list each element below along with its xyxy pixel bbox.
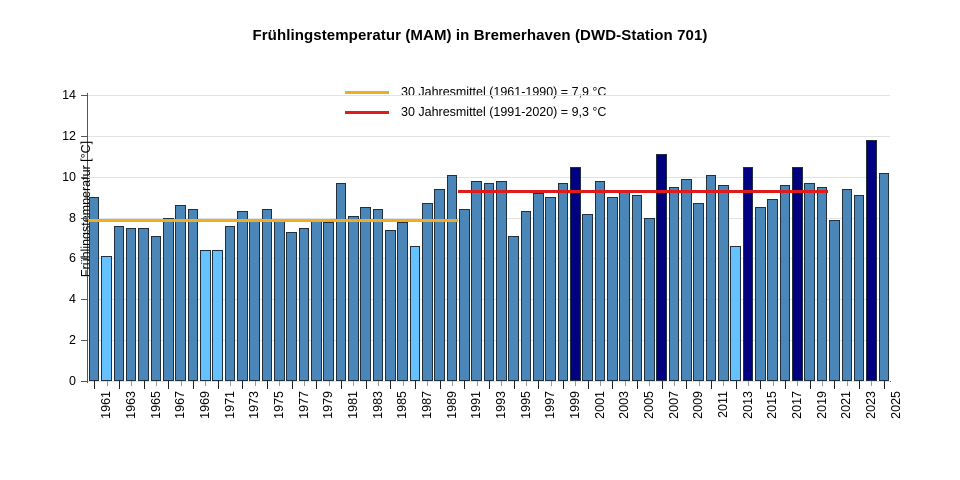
x-axis-tick: [674, 381, 675, 386]
x-axis-tick: [255, 381, 256, 386]
bar-1977: [286, 232, 297, 381]
bar-1988: [422, 203, 433, 381]
x-axis-tick: [205, 381, 206, 386]
x-axis-tick: [168, 381, 169, 389]
bar-2021: [829, 220, 840, 381]
x-axis-tick-label: 1985: [395, 391, 409, 419]
bar-1993: [484, 183, 495, 381]
x-axis-tick: [662, 381, 663, 389]
x-axis-tick: [600, 381, 601, 386]
y-axis-tick: [81, 299, 88, 300]
x-axis-tick: [144, 381, 145, 389]
x-axis-tick: [329, 381, 330, 386]
bar-1972: [225, 226, 236, 381]
y-axis-tick-label: 0: [36, 381, 76, 382]
x-axis-tick: [711, 381, 712, 389]
bar-2005: [632, 195, 643, 381]
x-axis-tick-label: 2003: [617, 391, 631, 419]
x-axis-tick: [193, 381, 194, 389]
x-axis-tick-label: 2011: [716, 391, 730, 418]
bar-1995: [508, 236, 519, 381]
bar-2024: [866, 140, 877, 381]
chart-root: Frühlingstemperatur (MAM) in Bremerhaven…: [0, 0, 960, 480]
x-axis-tick: [538, 381, 539, 389]
x-axis-tick-label: 1997: [543, 391, 557, 419]
bar-2008: [669, 187, 680, 381]
x-axis-tick: [230, 381, 231, 386]
bar-2023: [854, 195, 865, 381]
x-axis-tick-label: 1975: [272, 391, 286, 419]
bar-2017: [780, 185, 791, 381]
bar-1963: [114, 226, 125, 381]
x-axis-tick-label: 1991: [469, 391, 483, 419]
bar-1998: [545, 197, 556, 381]
x-axis-tick: [514, 381, 515, 389]
bar-2019: [804, 183, 815, 381]
x-axis-tick: [464, 381, 465, 389]
plot-area: Frühlingstemperatur [°C] 02468101214 196…: [88, 95, 890, 381]
bar-1973: [237, 211, 248, 381]
bar-1974: [249, 220, 260, 381]
x-axis-tick: [686, 381, 687, 389]
bar-1999: [558, 183, 569, 381]
x-axis-tick-label: 2021: [839, 391, 853, 419]
x-axis-tick-label: 2001: [593, 391, 607, 419]
bar-1996: [521, 211, 532, 381]
bar-1965: [138, 228, 149, 381]
y-axis-tick: [81, 136, 88, 137]
y-axis-tick: [81, 340, 88, 341]
x-axis-tick-label: 1971: [223, 391, 237, 419]
bar-2015: [755, 207, 766, 381]
bar-1976: [274, 220, 285, 381]
mean-1961-1990: [88, 219, 458, 222]
x-axis-tick-label: 1979: [321, 391, 335, 419]
x-axis-tick: [341, 381, 342, 389]
x-axis-tick: [501, 381, 502, 386]
x-axis-labels: 1961196319651967196919711973197519771979…: [88, 391, 890, 471]
x-axis-tick: [316, 381, 317, 389]
x-axis-tick: [119, 381, 120, 389]
y-axis-tick: [81, 177, 88, 178]
x-axis-tick: [736, 381, 737, 389]
x-axis-tick: [859, 381, 860, 389]
bar-1979: [311, 220, 322, 381]
x-axis-tick: [267, 381, 268, 389]
x-axis-tick-label: 2023: [864, 391, 878, 419]
x-axis-tick: [107, 381, 108, 386]
x-axis-tick-label: 2017: [790, 391, 804, 419]
x-axis-tick-label: 2007: [667, 391, 681, 419]
x-axis-tick: [415, 381, 416, 389]
bar-2000: [570, 167, 581, 382]
x-axis-tick: [822, 381, 823, 386]
x-axis-tick-label: 1977: [297, 391, 311, 419]
bar-series: [88, 95, 890, 381]
y-axis-tick: [81, 95, 88, 96]
x-axis-tick: [353, 381, 354, 386]
bar-1970: [200, 250, 211, 381]
bar-2007: [656, 154, 667, 381]
bar-1992: [471, 181, 482, 381]
x-axis-tick: [871, 381, 872, 386]
bar-2018: [792, 167, 803, 382]
x-axis-tick: [279, 381, 280, 386]
x-axis-tick: [94, 381, 95, 389]
y-axis-tick-label: 4: [36, 299, 76, 300]
x-axis-tick-label: 2005: [642, 391, 656, 419]
bar-2010: [693, 203, 704, 381]
x-axis-tick: [760, 381, 761, 389]
x-axis-tick: [390, 381, 391, 389]
x-axis-ticks: [88, 381, 890, 389]
y-axis-tick: [81, 258, 88, 259]
bar-1969: [188, 209, 199, 381]
bar-2006: [644, 218, 655, 381]
x-axis-tick: [156, 381, 157, 386]
x-axis-tick: [440, 381, 441, 389]
bar-2020: [817, 187, 828, 381]
x-axis-tick-label: 1981: [346, 391, 360, 419]
y-axis-tick-label: 10: [36, 177, 76, 178]
x-axis-tick: [304, 381, 305, 386]
y-axis-tick-label: 6: [36, 258, 76, 259]
x-axis-tick-label: 1983: [371, 391, 385, 419]
x-axis-tick-label: 2013: [741, 391, 755, 419]
x-axis-tick-label: 1995: [519, 391, 533, 419]
x-axis-tick: [452, 381, 453, 386]
x-axis-tick: [292, 381, 293, 389]
bar-1975: [262, 209, 273, 381]
x-axis-tick: [699, 381, 700, 386]
bar-1968: [175, 205, 186, 381]
y-axis-tick-label: 8: [36, 218, 76, 219]
y-axis-tick-label: 14: [36, 95, 76, 96]
bar-1982: [348, 216, 359, 381]
y-axis-tick: [81, 381, 88, 382]
x-axis-tick: [403, 381, 404, 386]
x-axis-tick: [748, 381, 749, 386]
x-axis-tick: [181, 381, 182, 386]
bar-2003: [607, 197, 618, 381]
x-axis-tick-label: 2009: [691, 391, 705, 419]
bar-1991: [459, 209, 470, 381]
bar-1978: [299, 228, 310, 381]
x-axis-tick: [785, 381, 786, 389]
bar-1985: [385, 230, 396, 381]
legend-swatch-mean-1961-1990: [345, 91, 389, 94]
bar-2001: [582, 214, 593, 382]
x-axis-tick-label: 1961: [99, 391, 113, 419]
x-axis-tick: [551, 381, 552, 386]
bar-2013: [730, 246, 741, 381]
x-axis-tick: [797, 381, 798, 386]
bar-1990: [447, 175, 458, 381]
x-axis-tick-label: 1969: [198, 391, 212, 419]
x-axis-tick: [649, 381, 650, 386]
x-axis-tick: [637, 381, 638, 389]
x-axis-tick: [563, 381, 564, 389]
bar-1962: [101, 256, 112, 381]
x-axis-tick: [378, 381, 379, 386]
x-axis-tick-label: 2015: [765, 391, 779, 419]
x-axis-tick: [588, 381, 589, 389]
bar-2025: [879, 173, 890, 381]
x-axis-tick: [427, 381, 428, 386]
x-axis-tick: [810, 381, 811, 389]
x-axis-tick: [612, 381, 613, 389]
bar-2014: [743, 167, 754, 382]
mean-1991-2020: [458, 190, 828, 193]
x-axis-tick-label: 1965: [149, 391, 163, 419]
x-axis-tick-label: 1999: [568, 391, 582, 419]
bar-1967: [163, 218, 174, 381]
x-axis-tick: [477, 381, 478, 386]
x-axis-tick: [526, 381, 527, 386]
bar-2009: [681, 179, 692, 381]
y-axis-tick: [81, 218, 88, 219]
x-axis-tick: [723, 381, 724, 386]
chart-title: Frühlingstemperatur (MAM) in Bremerhaven…: [0, 27, 960, 44]
x-axis-tick: [773, 381, 774, 386]
bar-1984: [373, 209, 384, 381]
x-axis-tick: [625, 381, 626, 386]
bar-1997: [533, 193, 544, 381]
bar-1987: [410, 246, 421, 381]
x-axis-tick: [218, 381, 219, 389]
bar-1964: [126, 228, 137, 381]
bar-2002: [595, 181, 606, 381]
x-axis-tick-label: 2025: [889, 391, 903, 419]
bar-2016: [767, 199, 778, 381]
bar-2011: [706, 175, 717, 381]
bar-2004: [619, 191, 630, 381]
bar-1961: [89, 197, 100, 381]
x-axis-tick-label: 1967: [173, 391, 187, 419]
bar-1994: [496, 181, 507, 381]
bar-1981: [336, 183, 347, 381]
x-axis-tick-label: 2019: [815, 391, 829, 419]
x-axis-tick: [834, 381, 835, 389]
x-axis-tick: [575, 381, 576, 386]
x-axis-tick: [847, 381, 848, 386]
x-axis-tick: [884, 381, 885, 389]
x-axis-tick-label: 1973: [247, 391, 261, 419]
x-axis-tick: [131, 381, 132, 386]
bar-1980: [323, 222, 334, 381]
x-axis-tick: [242, 381, 243, 389]
x-axis-tick-label: 1987: [420, 391, 434, 419]
x-axis-tick-label: 1989: [445, 391, 459, 419]
x-axis-tick: [489, 381, 490, 389]
bar-2012: [718, 185, 729, 381]
bar-2022: [842, 189, 853, 381]
y-axis-tick-label: 2: [36, 340, 76, 341]
x-axis-tick-label: 1963: [124, 391, 138, 419]
bar-1983: [360, 207, 371, 381]
bar-1966: [151, 236, 162, 381]
bar-1986: [397, 222, 408, 381]
x-axis-tick: [366, 381, 367, 389]
y-axis-tick-label: 12: [36, 136, 76, 137]
bar-1971: [212, 250, 223, 381]
x-axis-tick-label: 1993: [494, 391, 508, 419]
